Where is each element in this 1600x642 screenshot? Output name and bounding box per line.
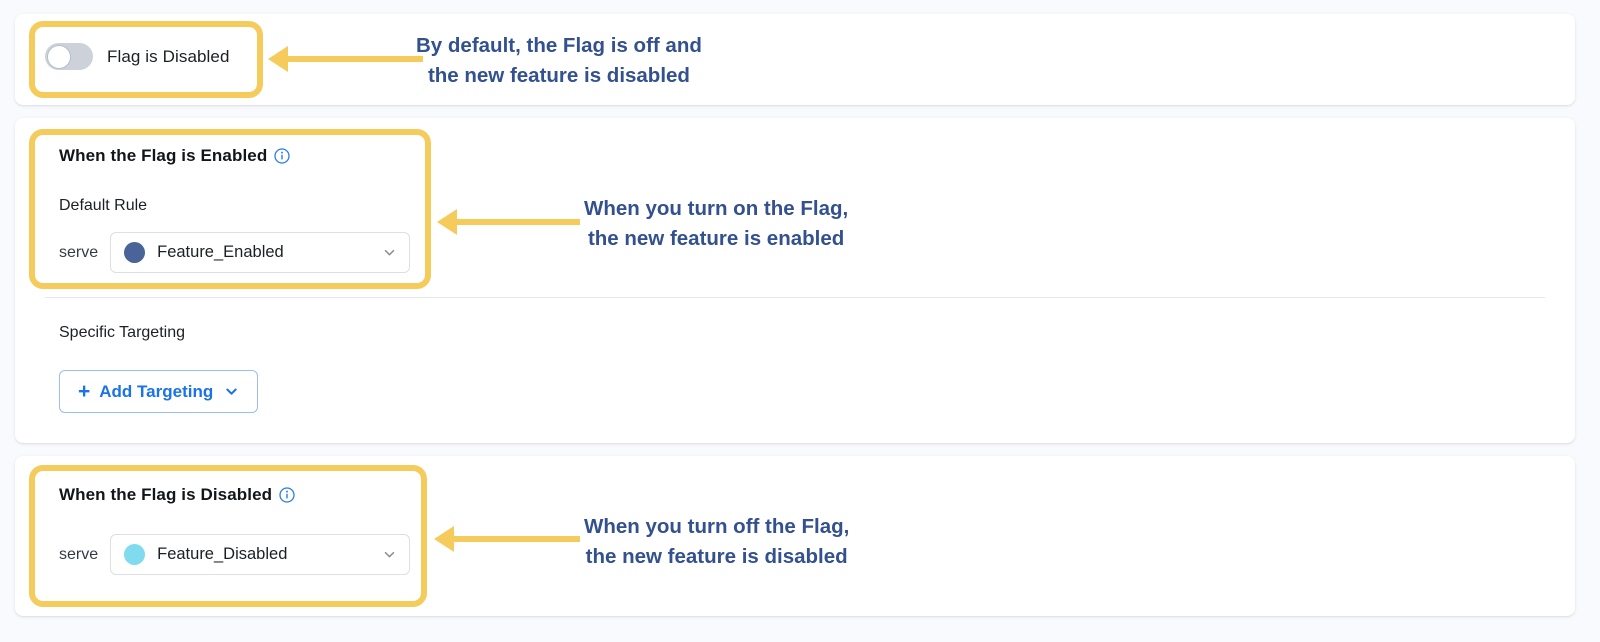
screenshot-root: Flag is Disabled When the Flag is Enable… xyxy=(0,0,1600,642)
disabled-serve-row: serve Feature_Disabled xyxy=(59,534,410,575)
chevron-down-icon[interactable] xyxy=(382,547,397,562)
default-rule-label: Default Rule xyxy=(59,197,147,215)
flag-toggle-row[interactable]: Flag is Disabled xyxy=(45,43,230,70)
add-targeting-button[interactable]: + Add Targeting xyxy=(59,370,258,413)
flag-toggle-label: Flag is Disabled xyxy=(107,47,230,67)
disabled-variation-value: Feature_Disabled xyxy=(157,545,370,564)
section-divider xyxy=(45,297,1545,298)
plus-icon: + xyxy=(78,381,90,402)
variation-color-dot xyxy=(124,242,145,263)
flag-toggle-switch[interactable] xyxy=(45,43,93,70)
enabled-variation-select[interactable]: Feature_Enabled xyxy=(110,232,410,273)
specific-targeting-label: Specific Targeting xyxy=(59,324,185,342)
variation-color-dot xyxy=(124,544,145,565)
info-circle-icon[interactable] xyxy=(274,148,290,164)
enabled-section-title-row: When the Flag is Enabled xyxy=(59,146,290,166)
enabled-section-title: When the Flag is Enabled xyxy=(59,146,267,166)
enabled-serve-word: serve xyxy=(59,244,98,262)
flag-toggle-card: Flag is Disabled xyxy=(15,14,1575,105)
flag-enabled-card: When the Flag is Enabled Default Rule se… xyxy=(15,118,1575,443)
disabled-section-title-row: When the Flag is Disabled xyxy=(59,485,295,505)
annotation-caption: By default, the Flag is off and the new … xyxy=(416,31,702,91)
annotation-caption-line: the new feature is disabled xyxy=(416,61,702,91)
annotation-caption-line: the new feature is disabled xyxy=(584,542,849,572)
annotation-caption-line: By default, the Flag is off and xyxy=(416,31,702,61)
enabled-variation-value: Feature_Enabled xyxy=(157,243,370,262)
annotation-caption: When you turn on the Flag, the new featu… xyxy=(584,194,848,254)
chevron-down-icon xyxy=(224,384,239,399)
disabled-variation-select[interactable]: Feature_Disabled xyxy=(110,534,410,575)
info-circle-icon[interactable] xyxy=(279,487,295,503)
chevron-down-icon[interactable] xyxy=(382,245,397,260)
disabled-serve-word: serve xyxy=(59,546,98,564)
toggle-knob xyxy=(47,45,71,69)
disabled-section-title: When the Flag is Disabled xyxy=(59,485,272,505)
enabled-serve-row: serve Feature_Enabled xyxy=(59,232,410,273)
annotation-caption-line: the new feature is enabled xyxy=(584,224,848,254)
annotation-caption: When you turn off the Flag, the new feat… xyxy=(584,512,849,572)
add-targeting-label: Add Targeting xyxy=(99,382,213,402)
annotation-caption-line: When you turn on the Flag, xyxy=(584,194,848,224)
annotation-caption-line: When you turn off the Flag, xyxy=(584,512,849,542)
